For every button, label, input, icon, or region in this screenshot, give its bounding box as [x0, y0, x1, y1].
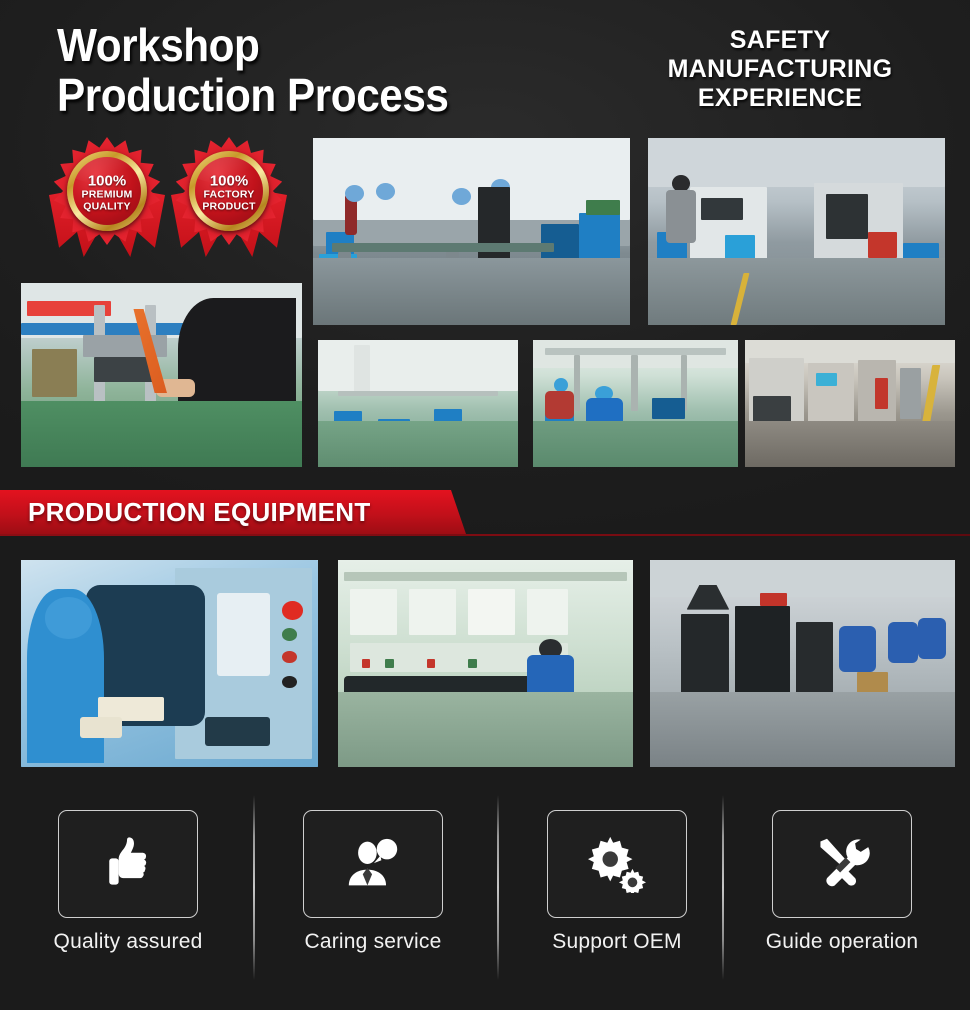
page-root: Workshop Production Process SAFETY MANUF…: [0, 0, 970, 1010]
badge-premium-quality: 100% PREMIUM QUALITY: [47, 133, 167, 258]
photo-worker-at-conveyor: [533, 340, 738, 467]
photo-cnc-machine-shop: [648, 138, 945, 325]
feature-icon-box[interactable]: [547, 810, 687, 918]
photo-press-machine-operator: [21, 283, 302, 467]
tagline-line-1: SAFETY: [635, 26, 925, 55]
badge-text: 100% PREMIUM QUALITY: [47, 174, 167, 213]
tools-icon: [812, 835, 872, 893]
badge-word-1: FACTORY: [169, 190, 289, 201]
feature-label: Caring service: [253, 930, 493, 954]
page-title: Workshop Production Process: [57, 20, 627, 120]
feature-quality-assured[interactable]: Quality assured: [8, 790, 248, 990]
badge-percent: 100%: [47, 174, 167, 190]
feature-label: Guide operation: [722, 930, 962, 954]
badge-word-2: PRODUCT: [169, 201, 289, 212]
photo-testing-bench-row: [338, 560, 633, 767]
badge-percent: 100%: [169, 174, 289, 190]
feature-support-oem[interactable]: Support OEM: [497, 790, 737, 990]
customer-service-icon: [343, 837, 403, 891]
header: Workshop Production Process SAFETY MANUF…: [0, 0, 970, 130]
tagline-line-3: EXPERIENCE: [635, 84, 925, 113]
tagline: SAFETY MANUFACTURING EXPERIENCE: [635, 26, 925, 113]
feature-guide-operation[interactable]: Guide operation: [722, 790, 962, 990]
photo-assembly-bench-workers: [313, 138, 630, 325]
photo-assembly-line-overview: [318, 340, 518, 467]
title-line-1: Workshop: [57, 20, 627, 70]
section-banner-production-equipment: PRODUCTION EQUIPMENT: [0, 488, 970, 538]
gears-icon: [586, 835, 648, 893]
thumbs-up-icon: [98, 834, 158, 894]
photo-cleanroom-control-panel: [21, 560, 318, 767]
badge-word-2: QUALITY: [47, 201, 167, 212]
rosette-icon: 100% FACTORY PRODUCT: [169, 133, 289, 253]
feature-label: Quality assured: [8, 930, 248, 954]
tagline-line-2: MANUFACTURING: [635, 55, 925, 84]
title-line-2: Production Process: [57, 70, 627, 120]
rosette-icon: 100% PREMIUM QUALITY: [47, 133, 167, 253]
photo-stacked-trays-warehouse: [650, 560, 955, 767]
feature-icon-box[interactable]: [303, 810, 443, 918]
feature-icon-box[interactable]: [58, 810, 198, 918]
features-row: Quality assured Caring service: [0, 790, 970, 990]
feature-label: Support OEM: [497, 930, 737, 954]
banner-underline: [0, 534, 970, 536]
banner-label: PRODUCTION EQUIPMENT: [28, 497, 371, 528]
feature-caring-service[interactable]: Caring service: [253, 790, 493, 990]
badge-word-1: PREMIUM: [47, 190, 167, 201]
feature-icon-box[interactable]: [772, 810, 912, 918]
badge-text: 100% FACTORY PRODUCT: [169, 174, 289, 213]
badge-factory-product: 100% FACTORY PRODUCT: [169, 133, 289, 258]
photo-injection-molding-row: [745, 340, 955, 467]
quality-badges: 100% PREMIUM QUALITY 100% FACTORY PRODUC…: [45, 133, 305, 258]
